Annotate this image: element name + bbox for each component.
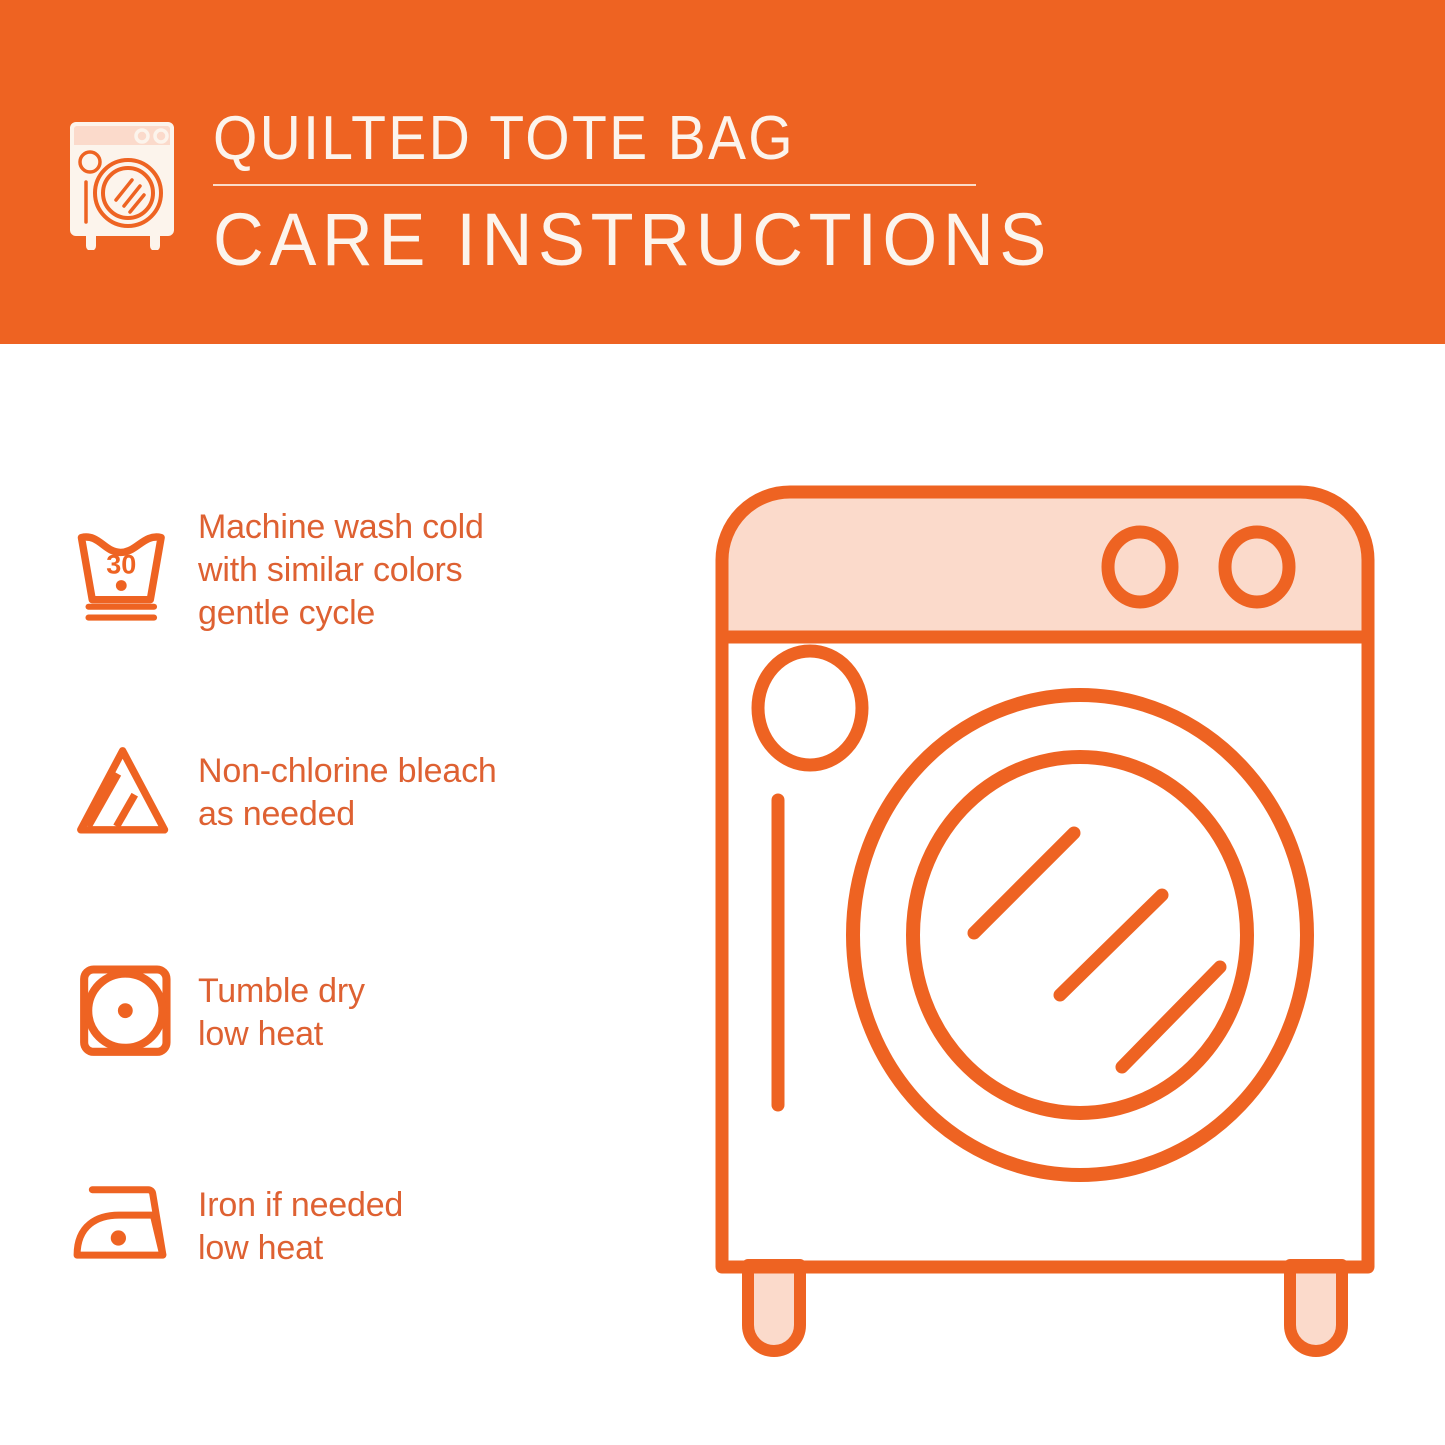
list-item: Tumble dry low heat <box>0 930 700 1090</box>
door-shine-ring <box>913 757 1247 1113</box>
washing-machine-icon <box>66 100 188 250</box>
page-title: QUILTED TOTE BAG <box>213 106 940 172</box>
list-item: Non-chlorine bleach as needed <box>0 712 700 872</box>
machine-wash-30-gentle-icon: 30 <box>0 492 180 652</box>
header-text-block: QUILTED TOTE BAG CARE INSTRUCTIONS <box>213 106 1003 280</box>
non-chlorine-bleach-icon <box>0 712 180 872</box>
list-item: 30 Machine wash cold with similar colors… <box>0 492 700 652</box>
foot-right <box>1290 1265 1342 1351</box>
list-item-label: Iron if needed low heat <box>180 1144 403 1270</box>
list-item-label: Machine wash cold with similar colors ge… <box>180 492 484 635</box>
list-item-label: Non-chlorine bleach as needed <box>180 712 497 836</box>
iron-low-heat-icon <box>0 1144 180 1304</box>
title-divider <box>213 184 976 186</box>
care-symbol-list: 30 Machine wash cold with similar colors… <box>0 344 700 1445</box>
page-subtitle: CARE INSTRUCTIONS <box>213 200 964 280</box>
list-item-label: Tumble dry low heat <box>180 930 365 1056</box>
foot-left <box>748 1265 800 1351</box>
detergent-drawer-circle <box>758 651 862 765</box>
tumble-dry-low-icon <box>0 930 180 1090</box>
door-shine-lines <box>974 833 1220 1067</box>
front-load-washing-machine-illustration <box>700 455 1430 1400</box>
care-instructions-page: QUILTED TOTE BAG CARE INSTRUCTIONS 30 Ma… <box>0 0 1445 1445</box>
door-outer-ring <box>853 695 1307 1175</box>
list-item: Iron if needed low heat <box>0 1144 700 1304</box>
svg-text:30: 30 <box>106 549 136 579</box>
header-banner: QUILTED TOTE BAG CARE INSTRUCTIONS <box>0 0 1445 344</box>
